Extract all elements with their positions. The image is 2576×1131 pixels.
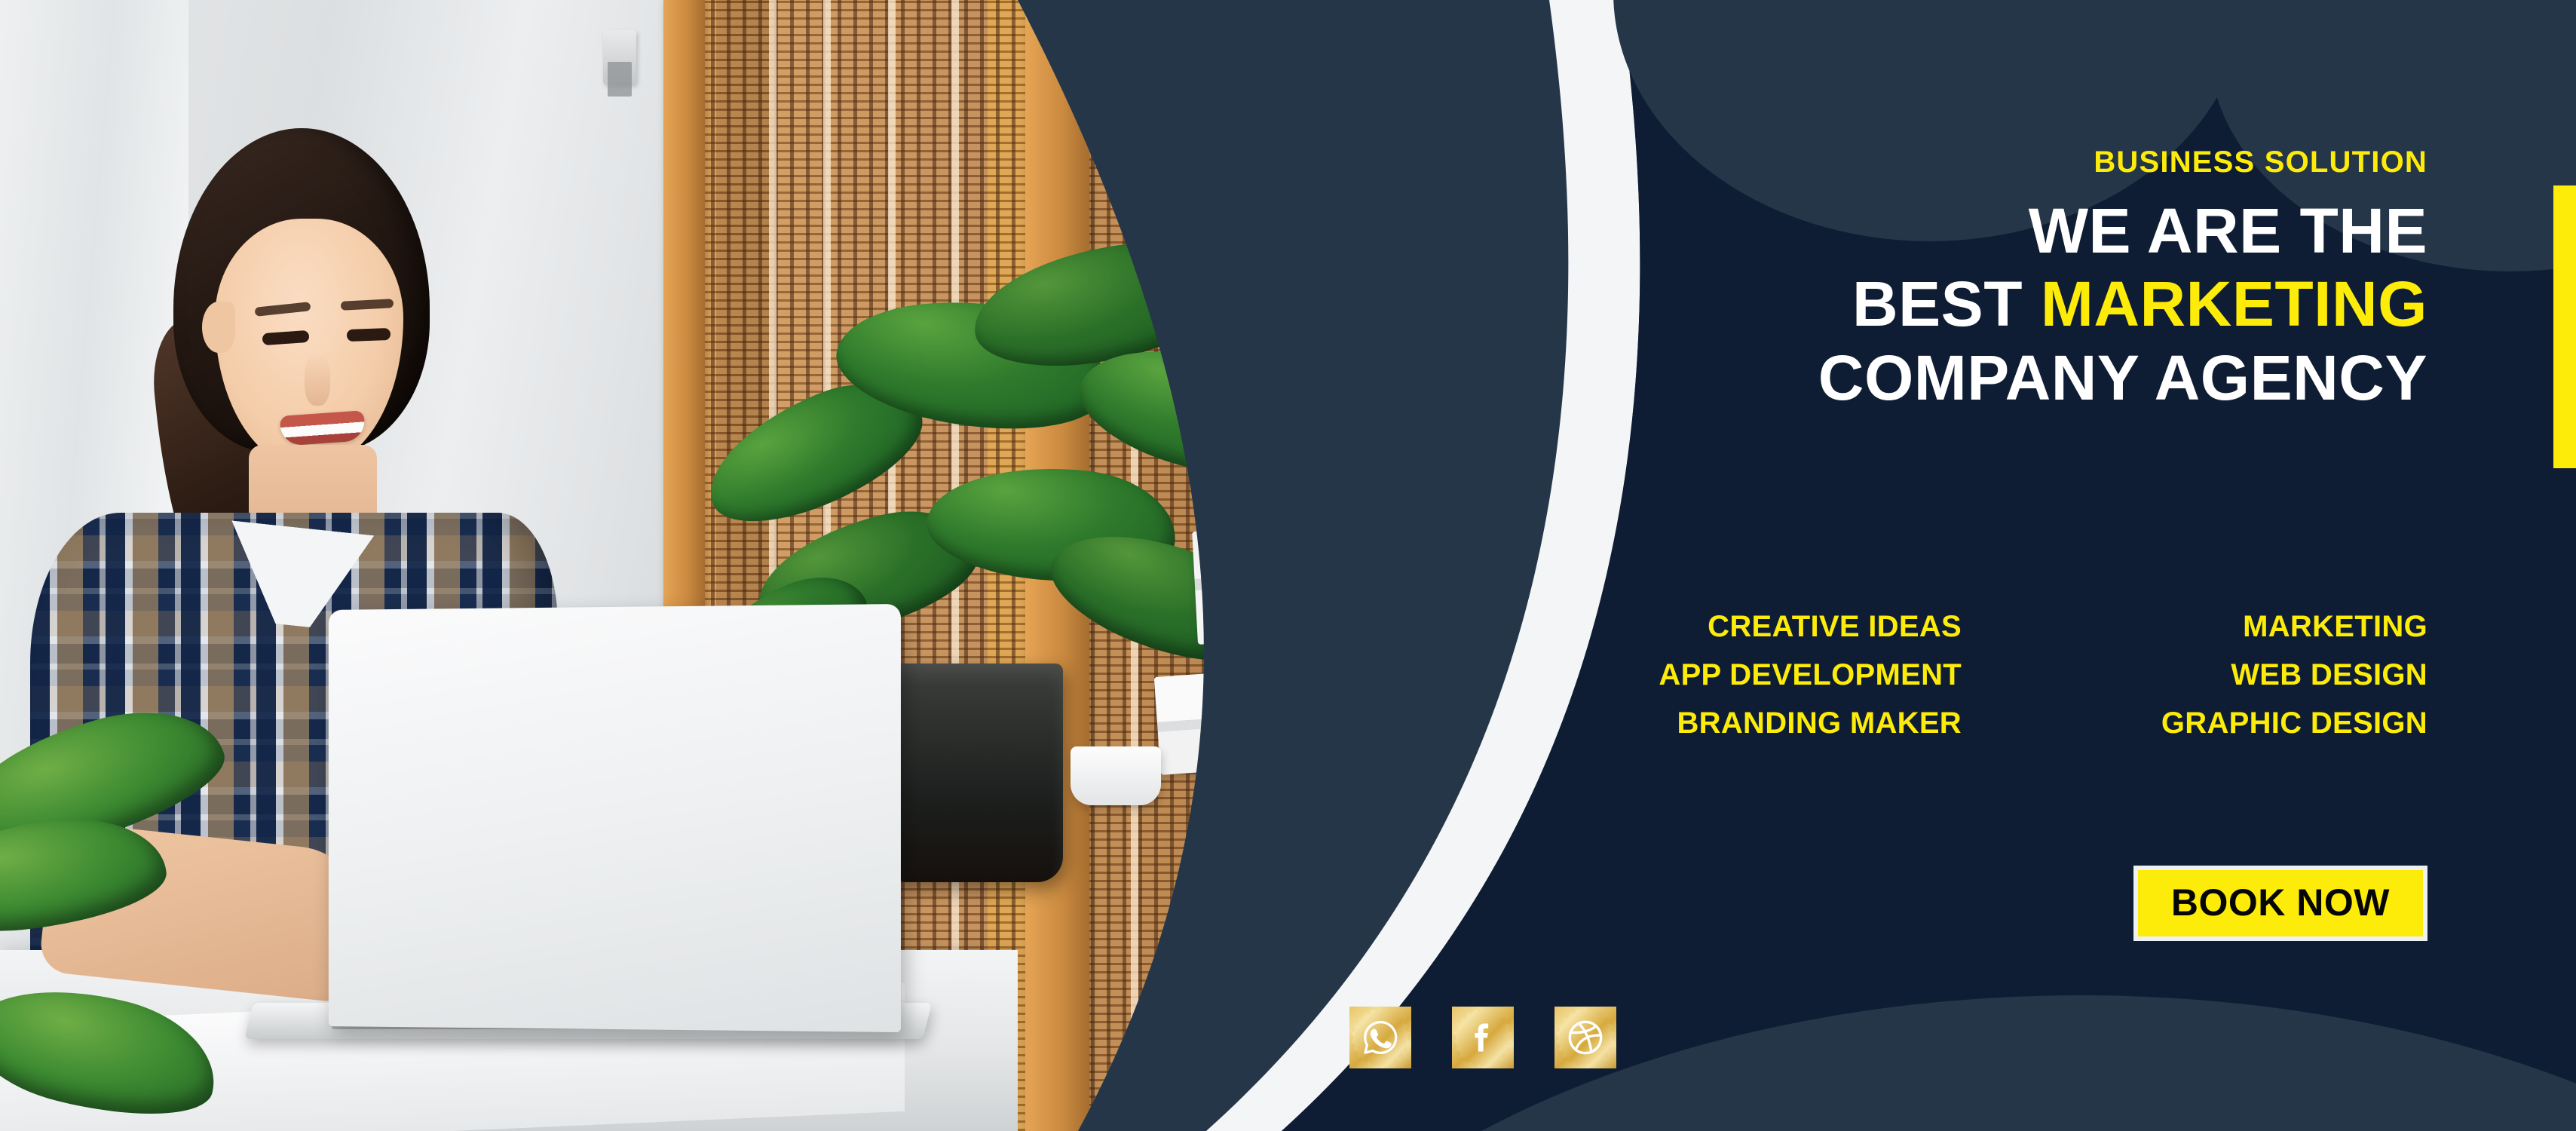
service-item-branding-maker[interactable]: BRANDING MAKER <box>1583 707 2005 739</box>
social-badge-facebook[interactable] <box>1452 1007 1514 1068</box>
facebook-icon <box>1464 1019 1502 1056</box>
headline-segment: WE ARE THE <box>2029 195 2427 266</box>
page-title: WE ARE THE BEST MARKETING COMPANY AGENCY <box>1583 195 2427 415</box>
service-item-web-design[interactable]: WEB DESIGN <box>2005 659 2427 691</box>
headline-segment: BEST <box>1852 268 2041 339</box>
whatsapp-icon <box>1361 1018 1400 1057</box>
service-item-app-development[interactable]: APP DEVELOPMENT <box>1583 659 2005 691</box>
headline-line-3: COMPANY AGENCY <box>1583 342 2427 415</box>
service-item-marketing[interactable]: MARKETING <box>2005 611 2427 642</box>
headline-line-1: WE ARE THE <box>1583 195 2427 268</box>
services-list: CREATIVE IDEAS MARKETING APP DEVELOPMENT… <box>1583 611 2427 739</box>
dribbble-icon <box>1565 1017 1606 1058</box>
headline-line-2: BEST MARKETING <box>1583 268 2427 341</box>
service-item-creative-ideas[interactable]: CREATIVE IDEAS <box>1583 611 2005 642</box>
right-edge-yellow-accent <box>2553 185 2576 468</box>
social-badge-whatsapp[interactable] <box>1349 1007 1411 1068</box>
eyebrow-text: BUSINESS SOLUTION <box>1583 147 2427 177</box>
headline-segment: COMPANY AGENCY <box>1818 342 2427 413</box>
social-badge-dribbble[interactable] <box>1554 1007 1616 1068</box>
hero-content: BUSINESS SOLUTION WE ARE THE BEST MARKET… <box>1583 0 2427 1131</box>
service-item-graphic-design[interactable]: GRAPHIC DESIGN <box>2005 707 2427 739</box>
headline-segment-accent: MARKETING <box>2041 268 2427 339</box>
book-now-button[interactable]: BOOK NOW <box>2133 866 2427 941</box>
marketing-banner: BUSINESS SOLUTION WE ARE THE BEST MARKET… <box>0 0 2576 1131</box>
cta-container: BOOK NOW <box>1583 866 2427 941</box>
social-links <box>1349 1007 1616 1068</box>
